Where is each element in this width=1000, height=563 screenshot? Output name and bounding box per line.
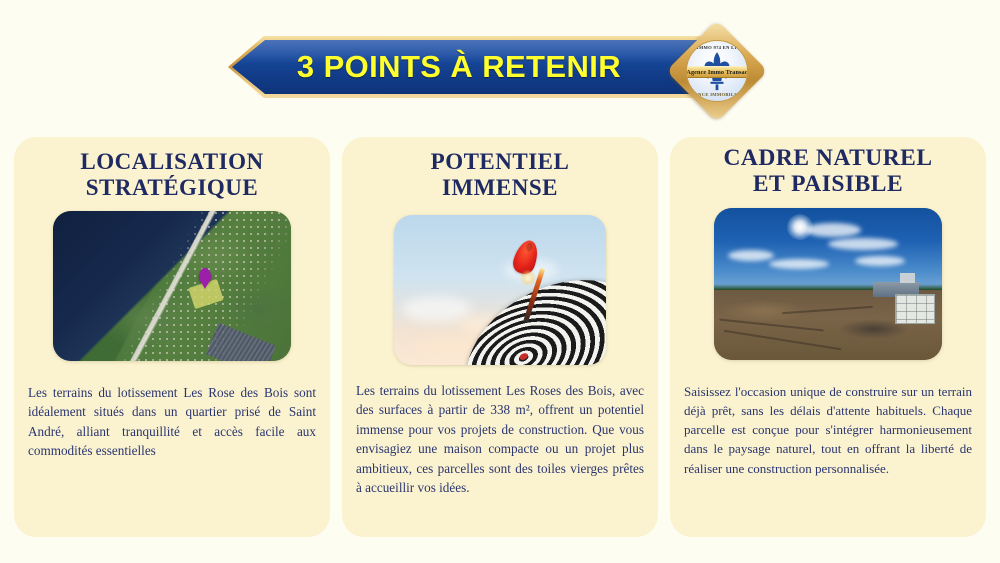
card-localisation-strategique: LOCALISATION STRATÉGIQUE Les terrains du… bbox=[14, 137, 330, 537]
dart-photo-graphic bbox=[394, 215, 606, 365]
logo-bottom-arc-text: AGENCE IMMOBILIERE bbox=[687, 92, 747, 97]
cloud bbox=[828, 238, 898, 250]
card-cadre-naturel-et-paisible: CADRE NATUREL ET PAISIBLE bbox=[670, 137, 986, 537]
card-potentiel-immense: POTENTIEL IMMENSE Les terrains du lotiss… bbox=[342, 137, 658, 537]
card-title-line2: ET PAISIBLE bbox=[753, 171, 903, 197]
water-tank bbox=[895, 294, 935, 324]
card-body-text: Les terrains du lotissement Les Rose des… bbox=[14, 383, 330, 461]
cloud bbox=[402, 296, 472, 322]
page-title: 3 POINTS À RETENIR bbox=[273, 49, 673, 85]
card-title: POTENTIEL IMMENSE bbox=[342, 137, 658, 201]
logo-ribbon-text: Agence Immo Transac bbox=[686, 69, 747, 76]
card-title: LOCALISATION STRATÉGIQUE bbox=[14, 137, 330, 201]
card-title: CADRE NATUREL ET PAISIBLE bbox=[670, 137, 986, 198]
card-body-text: Saisissez l'occasion unique de construir… bbox=[670, 382, 986, 478]
aerial-photo-graphic bbox=[53, 211, 291, 361]
card-title-line2: STRATÉGIQUE bbox=[86, 175, 259, 200]
card-title-line1: CADRE NATUREL bbox=[723, 145, 932, 171]
dart-target-image bbox=[394, 215, 606, 365]
logo-medallion: N°1 IMMO 974 EN LIGNE AGENCE IMMOBILIERE… bbox=[686, 40, 748, 102]
title-banner: 3 POINTS À RETENIR bbox=[228, 36, 718, 98]
logo-ribbon: Agence Immo Transac bbox=[686, 66, 748, 78]
company-logo: N°1 IMMO 974 EN LIGNE AGENCE IMMOBILIERE… bbox=[666, 20, 768, 122]
land-photo-graphic bbox=[714, 208, 942, 360]
card-title-line1: LOCALISATION bbox=[80, 149, 263, 174]
cloud bbox=[805, 223, 861, 237]
header-banner-area: 3 POINTS À RETENIR N°1 IMMO 974 EN LIGNE… bbox=[0, 0, 1000, 133]
points-card-row: LOCALISATION STRATÉGIQUE Les terrains du… bbox=[0, 137, 1000, 537]
card-title-line2: IMMENSE bbox=[442, 175, 558, 200]
aerial-satellite-view-image bbox=[53, 211, 291, 361]
impact-glow bbox=[520, 270, 536, 286]
card-body-text: Les terrains du lotissement Les Roses de… bbox=[342, 381, 658, 498]
land-plot-image bbox=[714, 208, 942, 360]
card-title-line1: POTENTIEL bbox=[431, 149, 570, 174]
banner-blue-fill: 3 POINTS À RETENIR bbox=[232, 40, 714, 94]
